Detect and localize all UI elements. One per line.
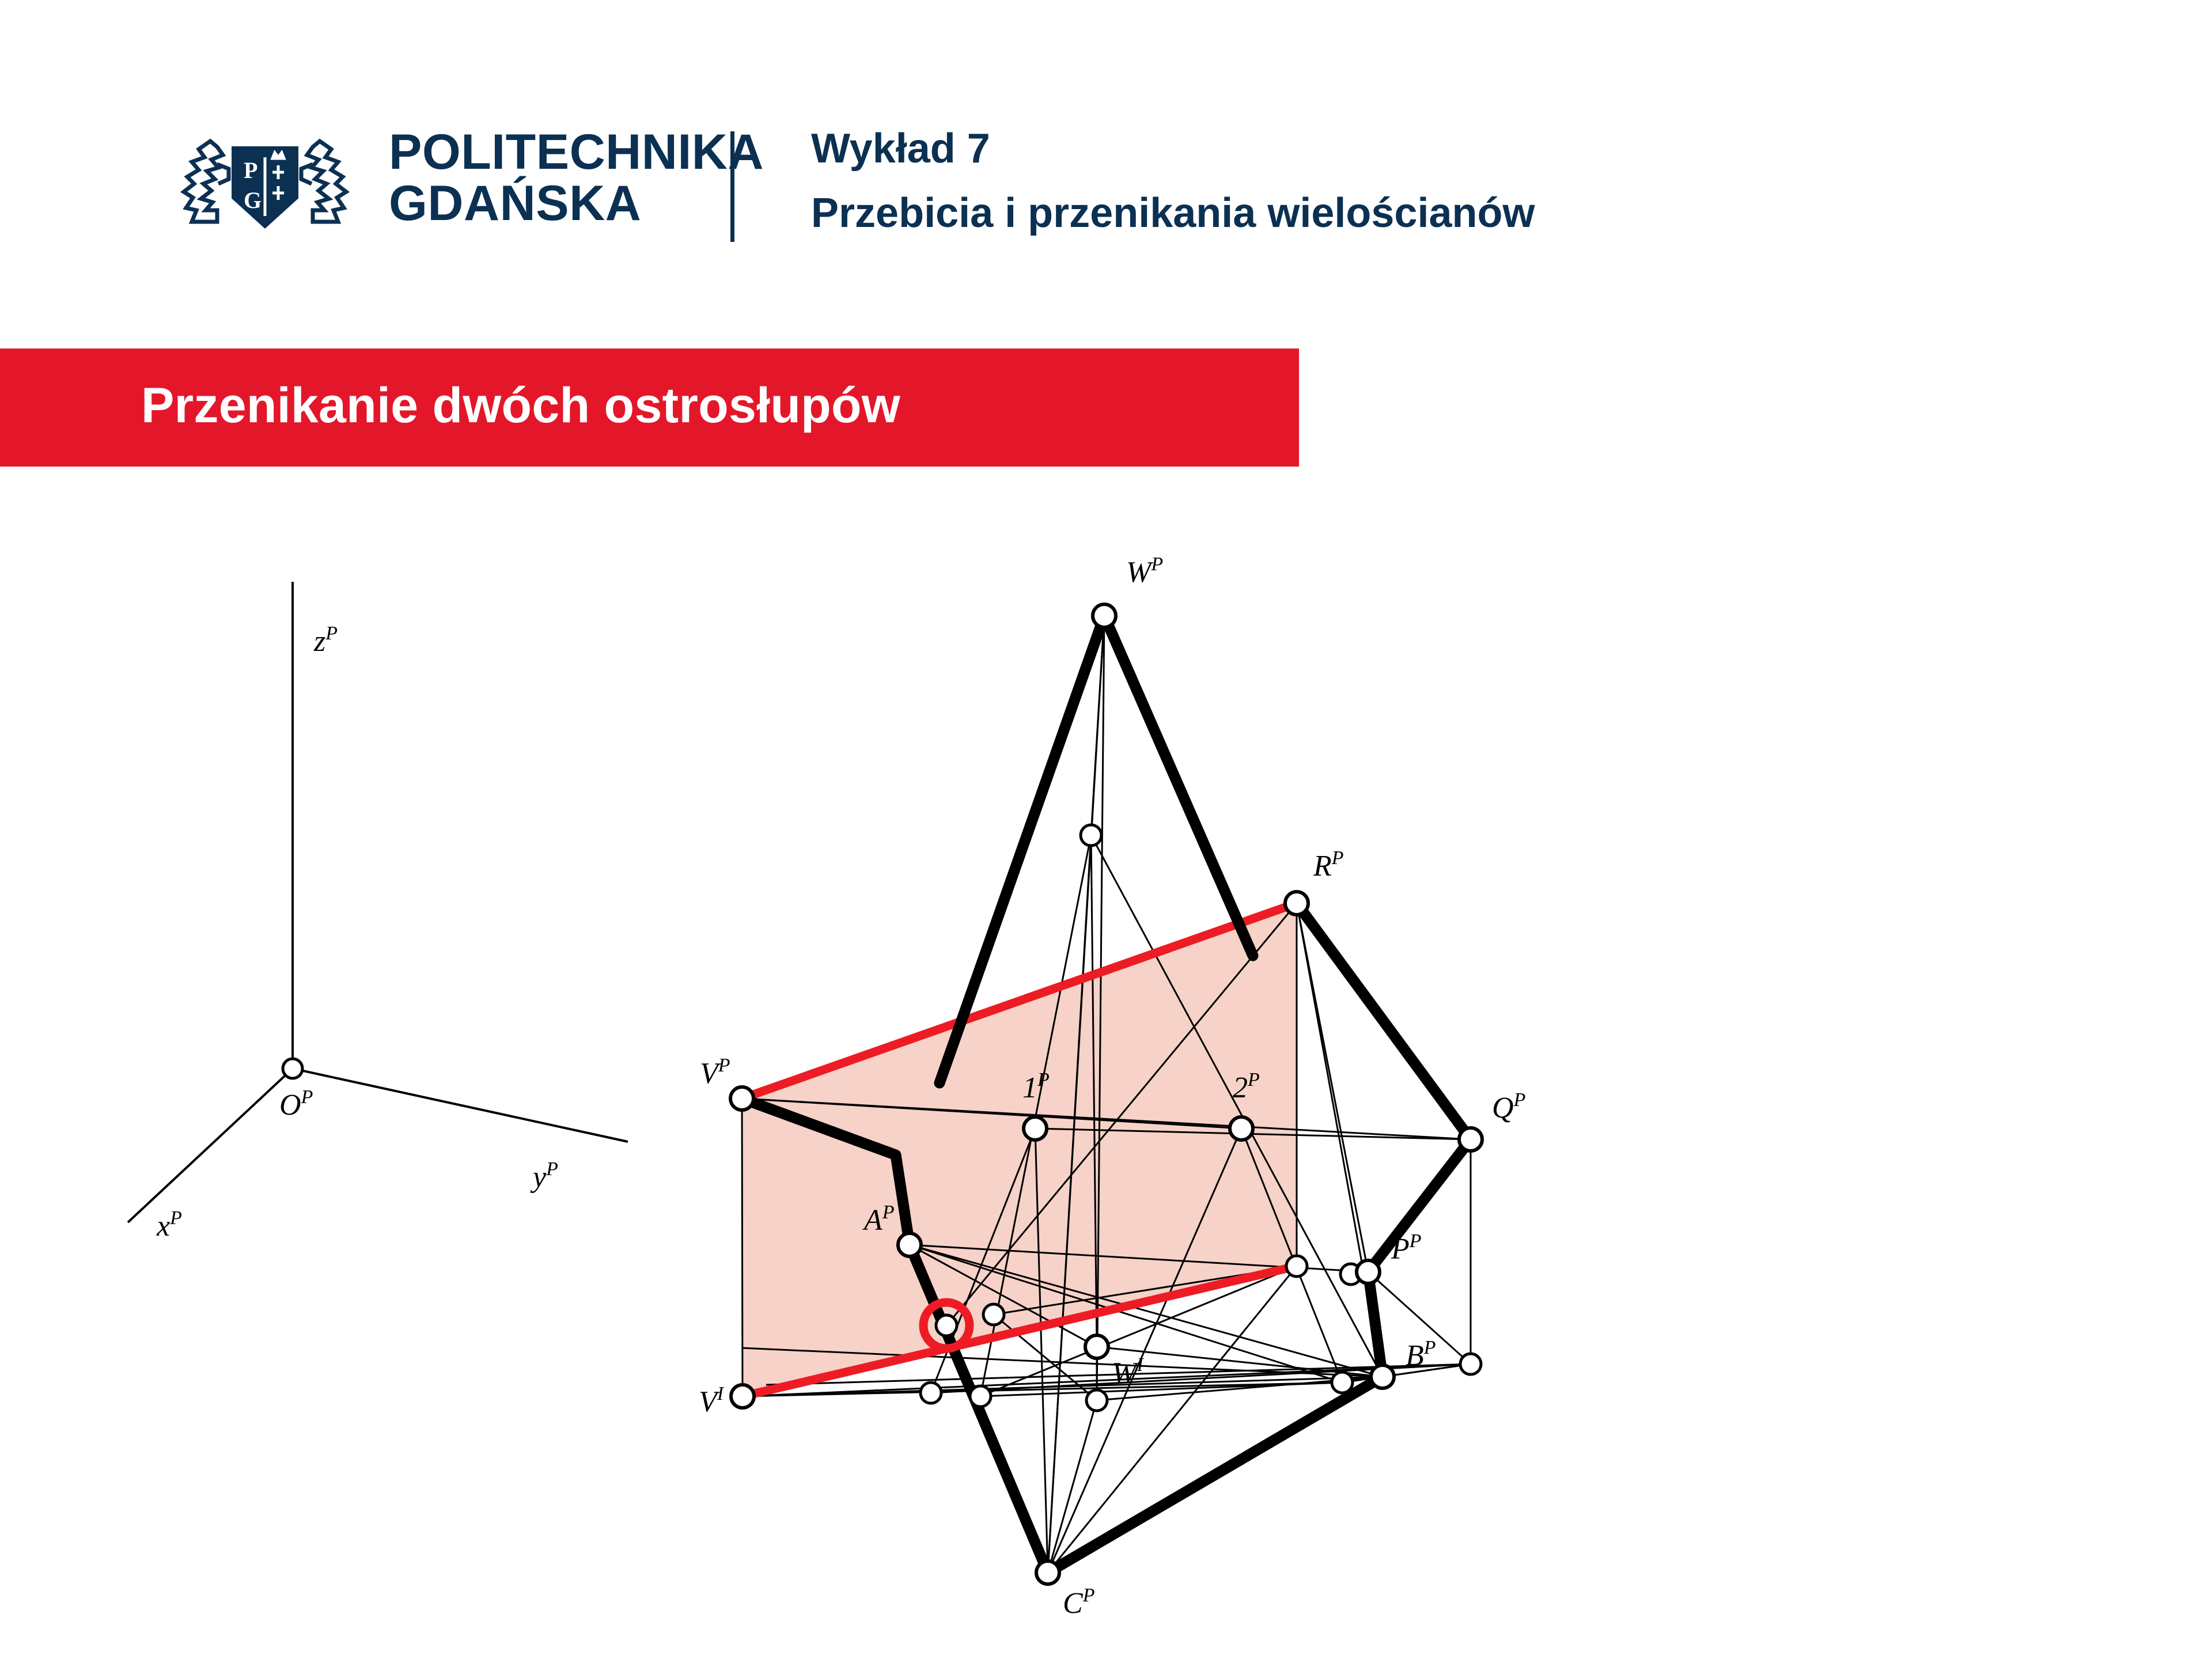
vertex-A: [898, 1233, 921, 1256]
header-text-block: Wykład 7 Przebicia i przenikania wielośc…: [811, 128, 1535, 234]
svg-text:P: P: [244, 157, 257, 183]
svg-text:zP: zP: [313, 623, 338, 658]
vertex-point: [1332, 1372, 1353, 1393]
svg-text:xP: xP: [156, 1207, 182, 1243]
lecture-subject: Przebicia i przenikania wielościanów: [811, 192, 1535, 234]
axis-y-sup: P: [546, 1158, 558, 1180]
axis-y-label: y: [530, 1161, 547, 1194]
vertex-point: [936, 1315, 957, 1336]
vertex-WI: [1085, 1335, 1108, 1358]
vertex-VI: [731, 1385, 754, 1408]
svg-text:yP: yP: [530, 1158, 558, 1194]
vertex-point: [1460, 1354, 1481, 1374]
projection-drawing: zP OP yP xP: [0, 495, 2212, 1659]
slide: P G POLITECHNIKA GDAŃSKA Wykład 7 Przebi…: [0, 0, 2212, 1659]
university-name: POLITECHNIKA GDAŃSKA: [389, 127, 764, 230]
university-name-line1: POLITECHNIKA: [389, 127, 764, 178]
vertex-label-W: WP: [1126, 554, 1163, 589]
geometry-figure: zP OP yP xP: [0, 495, 2212, 1659]
vertex-W: [1093, 604, 1116, 627]
coordinate-axes: [128, 582, 628, 1222]
axis-labels: zP OP yP xP: [156, 623, 558, 1243]
vertex-Q: [1459, 1128, 1482, 1151]
axis-x-label: x: [156, 1210, 170, 1243]
vertex-point: [983, 1304, 1004, 1325]
vertex-P1: [1024, 1117, 1047, 1140]
slide-header: P G POLITECHNIKA GDAŃSKA Wykład 7 Przebi…: [0, 0, 2212, 300]
vertex-B: [1371, 1365, 1394, 1388]
vertex-C: [1036, 1561, 1059, 1584]
svg-text:G: G: [244, 187, 262, 213]
vertex-label-R: RP: [1313, 847, 1344, 882]
vertex-point: [1286, 1256, 1307, 1277]
axis-origin-label: O: [279, 1089, 301, 1122]
vertex-point: [1081, 825, 1101, 846]
svg-text:OP: OP: [279, 1086, 313, 1122]
vertex-point: [970, 1386, 991, 1407]
cutting-plane-fill: [742, 903, 1297, 1396]
vertex-P2: [1230, 1117, 1253, 1140]
vertex-point: [1086, 1390, 1107, 1411]
header-divider: [730, 131, 734, 242]
axis-origin-sup: P: [301, 1086, 313, 1108]
axis-y: [293, 1069, 628, 1142]
vertex-R: [1285, 892, 1308, 915]
origin-vertex: [283, 1059, 302, 1078]
vertex-label-P: PP: [1391, 1230, 1422, 1266]
axis-x-sup: P: [169, 1207, 182, 1229]
vertex-label-Q: QP: [1492, 1089, 1525, 1124]
vertex-label-VI: VI: [699, 1383, 725, 1418]
vertex-P: [1357, 1260, 1380, 1283]
vertex-point: [921, 1382, 941, 1403]
lecture-number: Wykład 7: [811, 128, 1535, 169]
vertex-label-C: CP: [1063, 1585, 1094, 1620]
axis-z-sup: P: [325, 623, 338, 644]
axis-z-label: z: [313, 625, 325, 658]
pg-coat-of-arms-logo: P G: [141, 124, 389, 239]
page-title: Przenikanie dwóch ostrosłupów: [141, 377, 900, 434]
vertex-VP: [730, 1087, 753, 1110]
vertex-label-VP: VP: [700, 1055, 730, 1090]
university-name-line2: GDAŃSKA: [389, 178, 764, 229]
axis-x: [128, 1069, 293, 1222]
